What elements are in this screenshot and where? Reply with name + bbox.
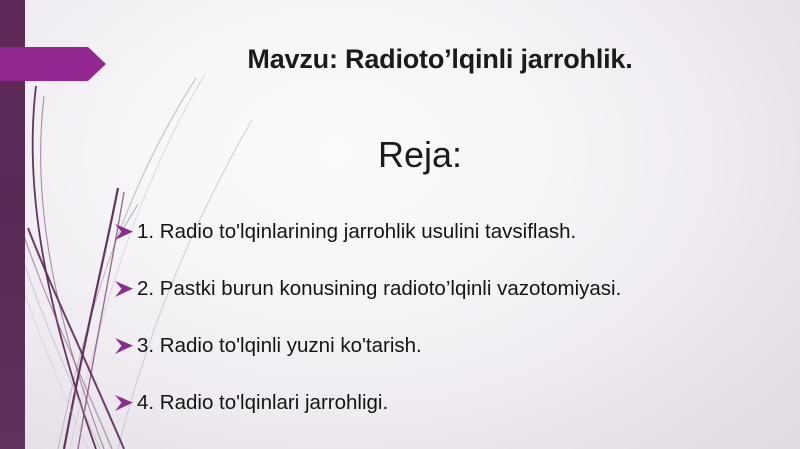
arrowhead-bullet-icon [114,279,136,299]
purple-arrow-banner [0,47,106,81]
list-item-label: 4. Radio to'lqinlari jarrohligi. [137,392,388,415]
arrowhead-bullet-icon [114,393,136,413]
list-item-label: 3. Radio to'lqinli yuzni ko'tarish. [137,335,422,358]
list-item-label: 2. Pastki burun konusining radioto’lqinl… [137,278,621,301]
list-item: 4. Radio to'lqinlari jarrohligi. [114,375,774,432]
list-item: 3. Radio to'lqinli yuzni ko'tarish. [114,318,774,375]
list-item: 1. Radio to'lqinlarining jarrohlik usuli… [114,204,774,261]
presentation-slide: Mavzu: Radioto’lqinli jarrohlik. Reja: 1… [0,0,800,449]
list-item-label: 1. Radio to'lqinlarining jarrohlik usuli… [137,221,576,244]
page-title: Mavzu: Radioto’lqinli jarrohlik. [120,44,760,75]
section-heading: Reja: [120,134,720,176]
agenda-list: 1. Radio to'lqinlarining jarrohlik usuli… [114,204,774,432]
arrowhead-bullet-icon [114,336,136,356]
arrowhead-bullet-icon [114,222,136,242]
list-item: 2. Pastki burun konusining radioto’lqinl… [114,261,774,318]
